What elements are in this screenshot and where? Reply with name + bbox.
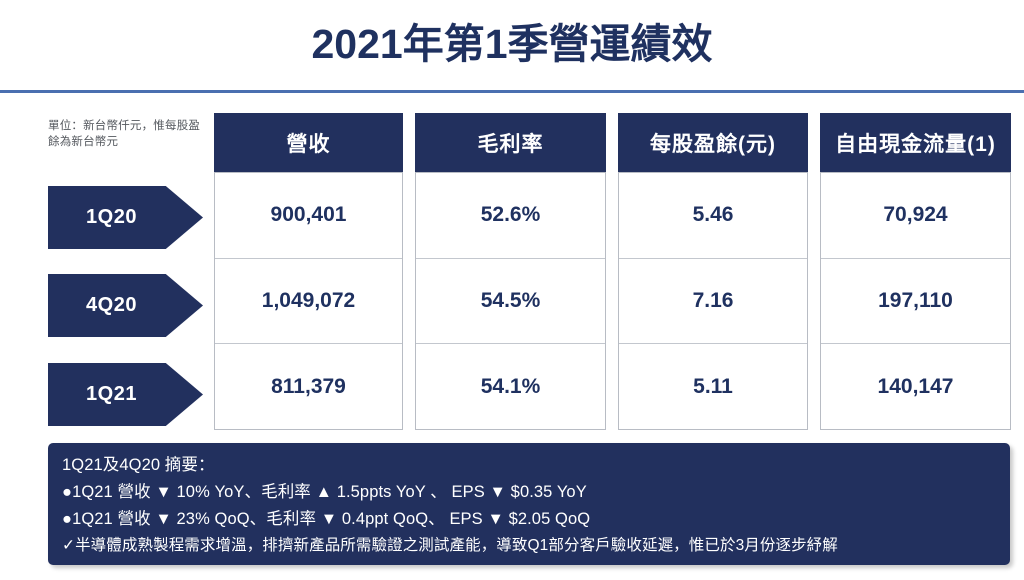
table-cell: 811,379	[215, 343, 402, 429]
table-cell: 5.46	[619, 172, 807, 258]
table-cell: 140,147	[821, 343, 1010, 429]
row-label-arrow: 4Q20	[48, 274, 203, 337]
table-column-free-cash-flow: 自由現金流量(1) 70,924 197,110 140,147	[820, 113, 1011, 430]
summary-heading: 1Q21及4Q20 摘要：	[62, 452, 1010, 479]
table-cell: 5.11	[619, 343, 807, 429]
row-label-arrow: 1Q21	[48, 363, 203, 426]
summary-panel: 1Q21及4Q20 摘要： ●1Q21 營收 ▼ 10% YoY、毛利率 ▲ 1…	[48, 443, 1010, 565]
column-header-eps: 每股盈餘(元)	[618, 113, 808, 172]
table-cell: 70,924	[821, 172, 1010, 258]
column-header-gross-margin: 毛利率	[415, 113, 606, 172]
table-column-revenue: 營收 900,401 1,049,072 811,379	[214, 113, 403, 430]
summary-bullet-qoq: ●1Q21 營收 ▼ 23% QoQ、毛利率 ▼ 0.4ppt QoQ、 EPS…	[62, 506, 1010, 533]
table-column-gross-margin: 毛利率 52.6% 54.5% 54.1%	[415, 113, 606, 430]
table-cell: 52.6%	[416, 172, 605, 258]
table-cell: 54.1%	[416, 343, 605, 429]
column-header-free-cash-flow: 自由現金流量(1)	[820, 113, 1011, 172]
column-header-revenue: 營收	[214, 113, 403, 172]
row-label-arrow: 1Q20	[48, 186, 203, 249]
table-cell: 1,049,072	[215, 258, 402, 344]
table-cell: 900,401	[215, 172, 402, 258]
table-cell: 54.5%	[416, 258, 605, 344]
table-column-eps: 每股盈餘(元) 5.46 7.16 5.11	[618, 113, 808, 430]
summary-note: ✓半導體成熟製程需求增溫，排擠新產品所需驗證之測試產能，導致Q1部分客戶驗收延遲…	[62, 533, 1010, 559]
table-cell: 197,110	[821, 258, 1010, 344]
summary-bullet-yoy: ●1Q21 營收 ▼ 10% YoY、毛利率 ▲ 1.5ppts YoY 、 E…	[62, 479, 1010, 506]
table-cell: 7.16	[619, 258, 807, 344]
